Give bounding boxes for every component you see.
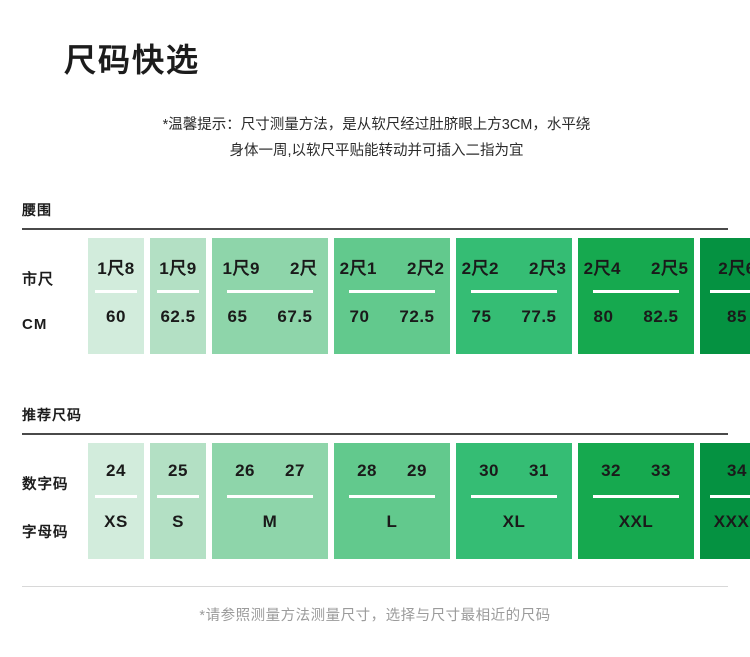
size-cell-value: 28 <box>357 461 377 481</box>
size-cell[interactable]: 34XXXL <box>700 443 750 559</box>
size-cell[interactable]: 1尺860 <box>88 238 144 354</box>
size-cell-value: XXXL <box>714 512 750 532</box>
size-cell-row1: 34 <box>700 443 750 495</box>
size-cell-row2: 60 <box>88 293 144 341</box>
size-cell-value: 30 <box>479 461 499 481</box>
size-cell-row1: 2尺22尺3 <box>456 238 572 290</box>
size-cell-row1: 2627 <box>212 443 328 495</box>
size-cell-row2: 6567.5 <box>212 293 328 341</box>
size-cell-row1: 24 <box>88 443 144 495</box>
size-cell-row1: 1尺8 <box>88 238 144 290</box>
size-cell-row1: 2尺42尺5 <box>578 238 694 290</box>
size-cell-value: 80 <box>593 307 613 327</box>
size-cell-value: 75 <box>471 307 491 327</box>
size-cell-value: M <box>263 512 278 532</box>
size-cell-value: 31 <box>529 461 549 481</box>
size-chart-page: 尺码快选 *温馨提示：尺寸测量方法，是从软尺经过肚脐眼上方3CM，水平绕 身体一… <box>0 0 750 657</box>
size-cell-value: 67.5 <box>277 307 312 327</box>
size-cell[interactable]: 2627M <box>212 443 328 559</box>
recommended-row2-label: 字母码 <box>22 521 69 542</box>
size-cell-value: XS <box>104 512 128 532</box>
recommended-size-section-rule <box>22 433 728 435</box>
waist-section-label: 腰围 <box>22 200 52 220</box>
size-cell-value: 1尺8 <box>97 254 134 279</box>
size-cell[interactable]: 2尺22尺37577.5 <box>456 238 572 354</box>
waist-row2-label: CM <box>22 316 47 333</box>
size-cell-row1: 2尺6 <box>700 238 750 290</box>
measurement-tip: *温馨提示：尺寸测量方法，是从软尺经过肚脐眼上方3CM，水平绕 身体一周,以软尺… <box>54 112 699 164</box>
size-cell-value: 82.5 <box>643 307 678 327</box>
size-cell-value: 2尺2 <box>462 254 499 279</box>
size-cell-value: 2尺3 <box>529 254 566 279</box>
size-cell-value: L <box>387 512 398 532</box>
size-cell[interactable]: 25S <box>150 443 206 559</box>
recommended-size-section-label: 推荐尺码 <box>22 405 82 425</box>
size-cell-value: 70 <box>349 307 369 327</box>
size-cell-row2: 85 <box>700 293 750 341</box>
size-cell-value: S <box>172 512 184 532</box>
recommended-size-cells: 24XS25S2627M2829L3031XL3233XXL34XXXL <box>88 443 750 559</box>
footer-note: *请参照测量方法测量尺寸，选择与尺寸最相近的尺码 <box>0 604 750 625</box>
size-cell-row2: XXL <box>578 498 694 546</box>
size-cell-row1: 25 <box>150 443 206 495</box>
size-cell-value: 60 <box>106 307 126 327</box>
size-cell-value: 1尺9 <box>223 254 260 279</box>
size-cell[interactable]: 2尺12尺27072.5 <box>334 238 450 354</box>
size-cell-value: 24 <box>106 461 126 481</box>
size-cell-value: 2尺 <box>290 254 317 279</box>
size-cell-row1: 3031 <box>456 443 572 495</box>
size-cell-value: 1尺9 <box>159 254 196 279</box>
size-cell-value: 2尺4 <box>584 254 621 279</box>
size-cell-row2: XL <box>456 498 572 546</box>
size-cell-value: XL <box>503 512 526 532</box>
size-cell-row2: S <box>150 498 206 546</box>
size-cell-row1: 2尺12尺2 <box>334 238 450 290</box>
size-cell-row1: 2829 <box>334 443 450 495</box>
size-cell[interactable]: 1尺962.5 <box>150 238 206 354</box>
size-cell-value: 2尺6 <box>718 254 750 279</box>
size-cell-row2: XXXL <box>700 498 750 546</box>
waist-section-rule <box>22 228 728 230</box>
size-cell-row1: 1尺92尺 <box>212 238 328 290</box>
size-cell-value: 25 <box>168 461 188 481</box>
size-cell-value: 85 <box>727 307 747 327</box>
footer-divider <box>22 586 728 587</box>
size-cell-row2: 7577.5 <box>456 293 572 341</box>
measurement-tip-line2: 身体一周,以软尺平贴能转动并可插入二指为宜 <box>54 138 699 164</box>
size-cell-value: 2尺5 <box>651 254 688 279</box>
size-cell-value: 77.5 <box>521 307 556 327</box>
size-cell-row2: L <box>334 498 450 546</box>
size-cell-row2: 7072.5 <box>334 293 450 341</box>
size-cell-value: 2尺1 <box>340 254 377 279</box>
page-title: 尺码快选 <box>64 40 200 80</box>
measurement-tip-line1: *温馨提示：尺寸测量方法，是从软尺经过肚脐眼上方3CM，水平绕 <box>163 117 591 133</box>
waist-cells: 1尺8601尺962.51尺92尺6567.52尺12尺27072.52尺22尺… <box>88 238 750 354</box>
size-cell[interactable]: 2尺42尺58082.5 <box>578 238 694 354</box>
size-cell[interactable]: 1尺92尺6567.5 <box>212 238 328 354</box>
size-cell-value: 29 <box>407 461 427 481</box>
size-cell-value: 33 <box>651 461 671 481</box>
size-cell-row2: XS <box>88 498 144 546</box>
size-cell-row2: 62.5 <box>150 293 206 341</box>
size-cell-value: 32 <box>601 461 621 481</box>
size-cell-row1: 3233 <box>578 443 694 495</box>
size-cell-row2: M <box>212 498 328 546</box>
size-cell-value: 2尺2 <box>407 254 444 279</box>
size-cell-row1: 1尺9 <box>150 238 206 290</box>
size-cell-value: 26 <box>235 461 255 481</box>
size-cell-value: 62.5 <box>160 307 195 327</box>
size-cell[interactable]: 3031XL <box>456 443 572 559</box>
size-cell-value: 72.5 <box>399 307 434 327</box>
size-cell[interactable]: 2829L <box>334 443 450 559</box>
size-cell[interactable]: 24XS <box>88 443 144 559</box>
size-cell-value: 27 <box>285 461 305 481</box>
size-cell-value: XXL <box>619 512 654 532</box>
size-cell[interactable]: 3233XXL <box>578 443 694 559</box>
recommended-row1-label: 数字码 <box>22 473 69 494</box>
size-cell[interactable]: 2尺685 <box>700 238 750 354</box>
size-cell-row2: 8082.5 <box>578 293 694 341</box>
waist-row1-label: 市尺 <box>22 268 54 289</box>
size-cell-value: 34 <box>727 461 747 481</box>
size-cell-value: 65 <box>227 307 247 327</box>
